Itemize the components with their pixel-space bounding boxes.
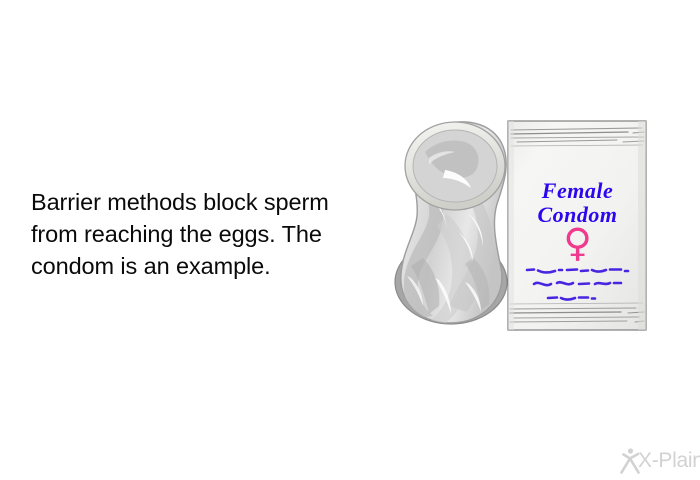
- caption-text: Barrier methods block sperm from reachin…: [31, 186, 391, 282]
- caption-line: Barrier methods block sperm: [31, 186, 391, 218]
- package-body-placeholder-lines: [509, 264, 646, 310]
- caption-line: condom is an example.: [31, 250, 391, 282]
- x-plain-logo-text: X-Plain: [638, 449, 700, 473]
- placeholder-line: [527, 270, 628, 273]
- caption-line: from reaching the eggs. The: [31, 218, 391, 250]
- female-condom-graphic: [395, 122, 507, 324]
- placeholder-line: [534, 282, 621, 285]
- x-plain-logo: X-Plain: [620, 446, 696, 476]
- package-title-line-1: Female: [509, 178, 646, 204]
- slide-canvas: Barrier methods block sperm from reachin…: [0, 0, 700, 480]
- female-gender-symbol-icon: ♀: [509, 222, 646, 266]
- placeholder-line: [548, 298, 595, 300]
